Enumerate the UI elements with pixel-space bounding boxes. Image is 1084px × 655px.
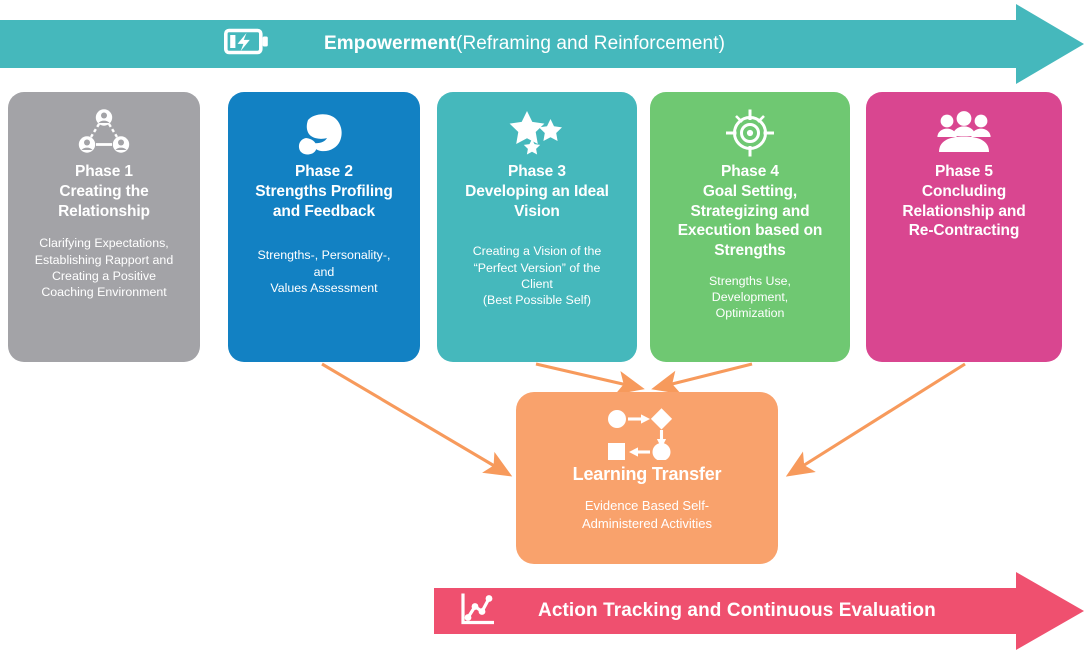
phase-5-title-line-0: Concluding <box>902 182 1025 202</box>
phase-1-sub-line-0: Clarifying Expectations, <box>35 235 173 251</box>
connector-phase4-to-lt <box>656 364 752 388</box>
phase-4-title: Phase 4 Goal Setting, Strategizing and E… <box>678 162 823 261</box>
phase-2-sub-line-0: Strengths-, Personality-, <box>258 247 391 263</box>
phase-2-title-line-1: and Feedback <box>255 202 393 222</box>
empowerment-title-rest: (Reframing and Reinforcement) <box>456 33 725 55</box>
action-tracking-banner-label: Action Tracking and Continuous Evaluatio… <box>538 572 936 650</box>
phase-4-sub-line-1: Development, <box>709 289 791 305</box>
empowerment-banner-label: Empowerment (Reframing and Reinforcement… <box>324 4 725 84</box>
phase-3-title-line-1: Vision <box>465 202 609 222</box>
phase-2-title: Phase 2 Strengths Profiling and Feedback <box>255 162 393 221</box>
phase-card-1[interactable]: Phase 1 Creating the Relationship Clarif… <box>8 92 200 362</box>
people-network-icon <box>77 106 131 160</box>
learning-transfer-sub-line-1: Administered Activities <box>582 515 712 533</box>
phase-card-3[interactable]: Phase 3 Developing an Ideal Vision Creat… <box>437 92 637 362</box>
phase-5-title-line-2: Re-Contracting <box>902 221 1025 241</box>
phase-3-subtitle: Creating a Vision of the “Perfect Versio… <box>473 243 602 308</box>
phase-2-sub-line-2: Values Assessment <box>258 280 391 296</box>
phase-4-sub-line-2: Optimization <box>709 305 791 321</box>
empowerment-banner: Empowerment (Reframing and Reinforcement… <box>0 4 1084 84</box>
phase-3-number: Phase 3 <box>465 162 609 182</box>
phase-4-title-line-3: Strengths <box>678 241 823 261</box>
phase-4-title-line-0: Goal Setting, <box>678 182 823 202</box>
learning-transfer-title: Learning Transfer <box>573 464 722 485</box>
action-tracking-title: Action Tracking and Continuous Evaluatio… <box>538 600 936 622</box>
phase-5-title: Phase 5 Concluding Relationship and Re-C… <box>902 162 1025 241</box>
phase-4-title-line-2: Execution based on <box>678 221 823 241</box>
phase-4-sub-line-0: Strengths Use, <box>709 273 791 289</box>
phase-5-number: Phase 5 <box>902 162 1025 182</box>
empowerment-title-bold: Empowerment <box>324 33 456 55</box>
phase-card-5[interactable]: Phase 5 Concluding Relationship and Re-C… <box>866 92 1062 362</box>
phase-1-title-line-1: Relationship <box>58 202 150 222</box>
phase-2-sub-line-1: and <box>258 264 391 280</box>
phase-4-subtitle: Strengths Use, Development, Optimization <box>709 273 791 321</box>
group-of-people-icon <box>934 106 994 160</box>
phase-3-sub-line-3: (Best Possible Self) <box>473 292 602 308</box>
flexed-biceps-icon <box>296 106 352 160</box>
phase-1-title: Phase 1 Creating the Relationship <box>58 162 150 221</box>
phase-1-subtitle: Clarifying Expectations, Establishing Ra… <box>35 235 173 300</box>
connector-phase5-to-lt <box>790 364 965 474</box>
phase-1-sub-line-3: Coaching Environment <box>35 284 173 300</box>
phase-1-sub-line-1: Establishing Rapport and <box>35 252 173 268</box>
line-chart-icon <box>458 589 498 634</box>
phase-2-number: Phase 2 <box>255 162 393 182</box>
phase-card-4[interactable]: Phase 4 Goal Setting, Strategizing and E… <box>650 92 850 362</box>
phase-4-title-line-1: Strategizing and <box>678 202 823 222</box>
phase-5-title-line-1: Relationship and <box>902 202 1025 222</box>
phase-3-sub-line-2: Client <box>473 276 602 292</box>
diagram-canvas: Empowerment (Reframing and Reinforcement… <box>0 0 1084 654</box>
connector-phase3-to-lt <box>536 364 640 388</box>
target-crosshair-icon <box>724 106 776 160</box>
action-tracking-banner: Action Tracking and Continuous Evaluatio… <box>434 572 1084 650</box>
phase-1-number: Phase 1 <box>58 162 150 182</box>
phase-3-title-line-0: Developing an Ideal <box>465 182 609 202</box>
learning-transfer-box[interactable]: Learning Transfer Evidence Based Self- A… <box>516 392 778 564</box>
process-flow-icon <box>604 406 690 462</box>
phase-3-sub-line-1: “Perfect Version” of the <box>473 260 602 276</box>
phase-2-subtitle: Strengths-, Personality-, and Values Ass… <box>258 247 391 295</box>
three-stars-icon <box>508 106 566 160</box>
learning-transfer-subtitle: Evidence Based Self- Administered Activi… <box>582 497 712 532</box>
phase-card-2[interactable]: Phase 2 Strengths Profiling and Feedback… <box>228 92 420 362</box>
phase-3-sub-line-0: Creating a Vision of the <box>473 243 602 259</box>
battery-charging-icon <box>224 27 270 62</box>
phase-1-sub-line-2: Creating a Positive <box>35 268 173 284</box>
phase-2-title-line-0: Strengths Profiling <box>255 182 393 202</box>
connector-phase2-to-lt <box>322 364 508 474</box>
phase-1-title-line-0: Creating the <box>58 182 150 202</box>
learning-transfer-sub-line-0: Evidence Based Self- <box>582 497 712 515</box>
phase-3-title: Phase 3 Developing an Ideal Vision <box>465 162 609 221</box>
phase-4-number: Phase 4 <box>678 162 823 182</box>
